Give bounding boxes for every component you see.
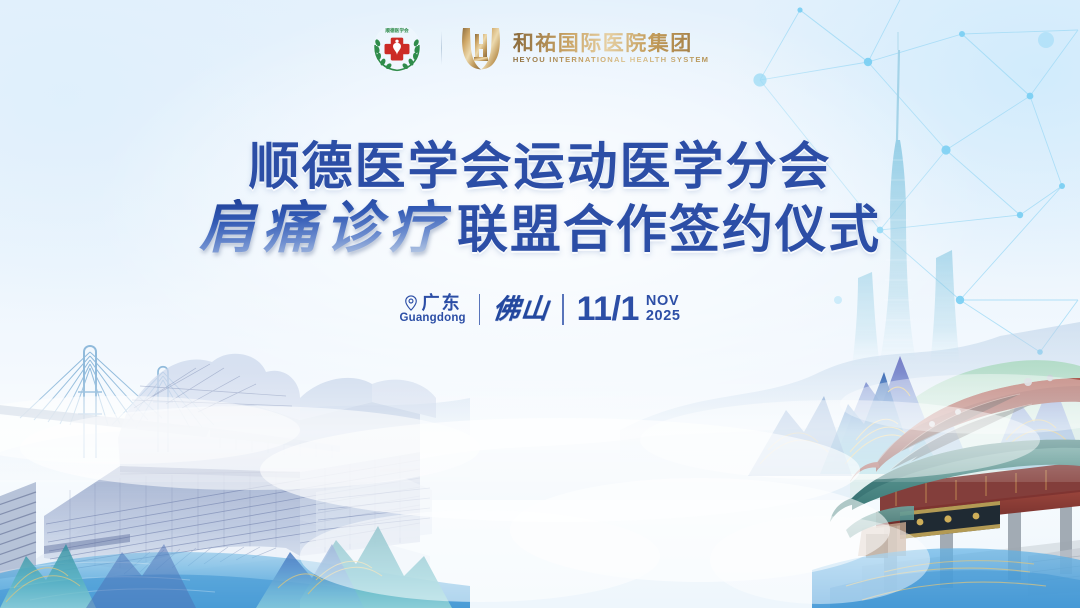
title-line-2: 肩痛诊疗 联盟合作签约仪式 [0, 199, 1080, 261]
header-logo-row: 顺德医学会 [0, 22, 1080, 74]
logo-divider [441, 31, 442, 65]
province-en: Guangdong [399, 313, 465, 325]
meta-separator-2 [562, 294, 563, 325]
poster-title: 顺德医学会运动医学分会 肩痛诊疗 联盟合作签约仪式 [0, 138, 1080, 261]
medical-society-emblem-icon: 顺德医学会 [371, 22, 423, 74]
date-year: 2025 [646, 309, 681, 324]
province-cn: 广东 [422, 294, 462, 312]
heyou-hy-monogram-icon [460, 26, 502, 70]
map-pin-icon [404, 295, 418, 311]
event-meta-bar: 广东 Guangdong 佛山 11/1 NOV 2025 [0, 292, 1080, 326]
date-month-year: NOV 2025 [646, 294, 681, 324]
emblem-arc-text: 顺德医学会 [385, 27, 409, 34]
province-row: 广东 [404, 294, 462, 312]
city-cn: 佛山 [492, 296, 551, 323]
heyou-group-logo: 和祐国际医院集团 HEYOU INTERNATIONAL HEALTH SYST… [460, 26, 709, 70]
meta-separator-1 [479, 294, 480, 325]
title-line-2-rest: 联盟合作签约仪式 [457, 202, 881, 258]
date-month: NOV [646, 294, 681, 309]
title-line-1: 顺德医学会运动医学分会 [0, 138, 1080, 195]
event-date: 11/1 NOV 2025 [577, 292, 681, 326]
heyou-name-cn: 和祐国际医院集团 [513, 33, 709, 54]
poster-canvas: 顺德医学会 [0, 0, 1080, 608]
date-day: 11/1 [577, 292, 639, 326]
title-emphasis: 肩痛诊疗 [199, 199, 451, 261]
heyou-name-en: HEYOU INTERNATIONAL HEALTH SYSTEM [513, 56, 709, 64]
event-location: 广东 Guangdong [399, 294, 465, 325]
